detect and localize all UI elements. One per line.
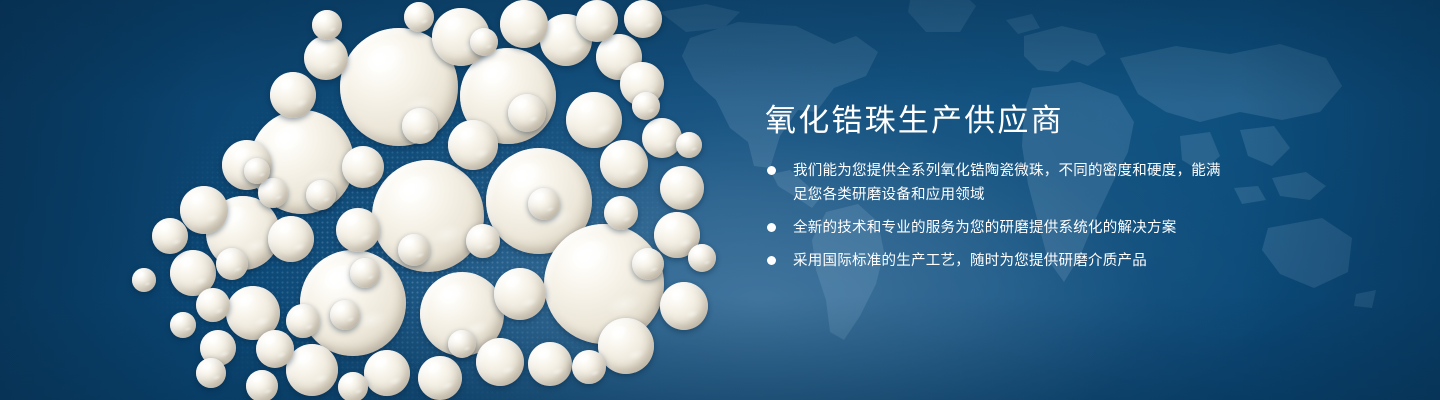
bullet-dot-icon: [767, 223, 776, 232]
feature-list-item: 全新的技术和专业的服务为您的研磨提供系统化的解决方案: [765, 216, 1235, 240]
feature-text: 采用国际标准的生产工艺，随时为您提供研磨介质产品: [793, 253, 1147, 269]
feature-text: 我们能为您提供全系列氧化锆陶瓷微珠，不同的密度和硬度，能满足您各类研磨设备和应用…: [793, 163, 1221, 203]
banner-headline: 氧化锆珠生产供应商: [765, 104, 1235, 137]
hero-banner: 氧化锆珠生产供应商 我们能为您提供全系列氧化锆陶瓷微珠，不同的密度和硬度，能满足…: [0, 0, 1440, 400]
feature-text: 全新的技术和专业的服务为您的研磨提供系统化的解决方案: [793, 220, 1177, 236]
bullet-dot-icon: [767, 256, 776, 265]
feature-list-item: 我们能为您提供全系列氧化锆陶瓷微珠，不同的密度和硬度，能满足您各类研磨设备和应用…: [765, 159, 1235, 207]
banner-text-block: 氧化锆珠生产供应商 我们能为您提供全系列氧化锆陶瓷微珠，不同的密度和硬度，能满足…: [765, 104, 1235, 273]
banner-feature-list: 我们能为您提供全系列氧化锆陶瓷微珠，不同的密度和硬度，能满足您各类研磨设备和应用…: [765, 159, 1235, 273]
bullet-dot-icon: [767, 166, 776, 175]
feature-list-item: 采用国际标准的生产工艺，随时为您提供研磨介质产品: [765, 249, 1235, 273]
